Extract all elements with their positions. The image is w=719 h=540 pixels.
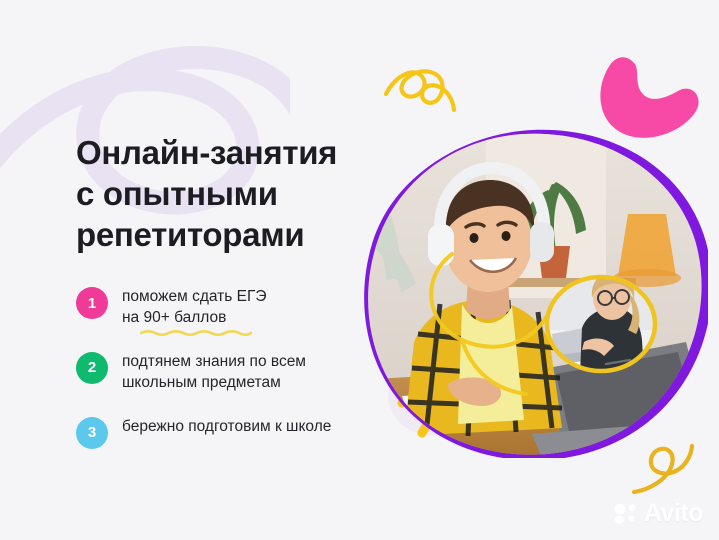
headline-line-1: Онлайн-занятия <box>76 133 376 174</box>
bullet-3-line-1: бережно подготовим к школе <box>122 418 331 435</box>
promo-banner: Онлайн-занятия с опытными репетиторами 1… <box>0 0 719 540</box>
bullet-text-2: подтянем знания по всем школьным предмет… <box>122 351 306 394</box>
bullet-badge-1: 1 <box>76 287 108 319</box>
hero-photo <box>356 128 708 458</box>
bullet-text-1: поможем сдать ЕГЭ на 90+ баллов <box>122 286 267 329</box>
bullet-2-line-1: подтянем знания по всем <box>122 353 306 370</box>
list-item: 2 подтянем знания по всем школьным предм… <box>76 351 386 394</box>
bullet-1-line-1: поможем сдать ЕГЭ <box>122 288 267 305</box>
list-item: 1 поможем сдать ЕГЭ на 90+ баллов <box>76 286 386 329</box>
photo-purple-ring <box>356 128 708 458</box>
bullet-1-line-2: на 90+ баллов <box>122 307 226 328</box>
wavy-underline-icon <box>140 329 252 336</box>
headline-line-3: репетиторами <box>76 215 376 256</box>
avito-logo-icon <box>613 503 639 525</box>
page-title: Онлайн-занятия с опытными репетиторами <box>76 133 376 256</box>
yellow-curl-top-icon <box>382 62 472 122</box>
headline-line-2: с опытными <box>76 174 376 215</box>
bullet-badge-3: 3 <box>76 417 108 449</box>
list-item: 3 бережно подготовим к школе <box>76 416 386 449</box>
benefits-list: 1 поможем сдать ЕГЭ на 90+ баллов 2 подт… <box>76 286 386 449</box>
bullet-2-line-2: школьным предметам <box>122 372 281 393</box>
bullet-badge-2: 2 <box>76 352 108 384</box>
bullet-text-3: бережно подготовим к школе <box>122 416 331 437</box>
avito-watermark-label: Avito <box>644 499 703 528</box>
avito-watermark: Avito <box>613 499 703 528</box>
